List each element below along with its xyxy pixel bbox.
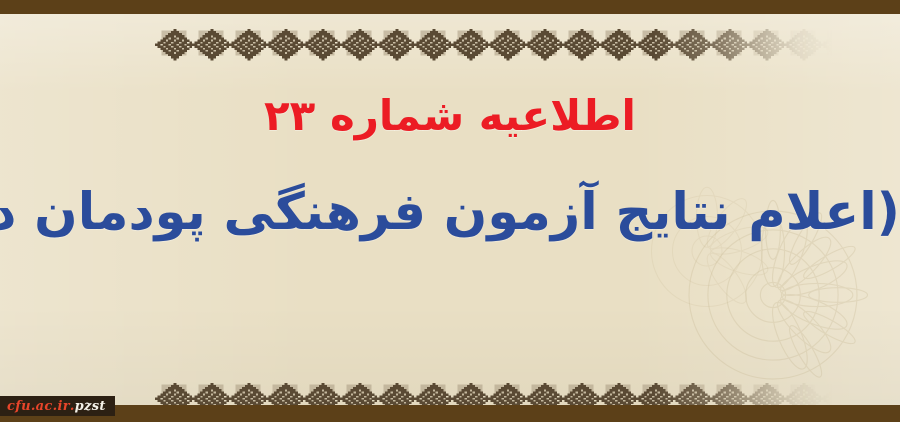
site-url-watermark: pzst.cfu.ac.ir: [0, 396, 115, 416]
kufic-diamond-motif: [303, 22, 340, 68]
kufic-diamond-motif: [192, 22, 229, 68]
kufic-diamond-motif: [266, 22, 303, 68]
watermark-suffix: .cfu.ac.ir: [7, 399, 75, 414]
kufic-diamond-motif: [747, 22, 784, 68]
kufic-diamond-motif: [673, 22, 710, 68]
top-decorative-border: [93, 22, 900, 68]
kufic-diamond-motif: [599, 22, 636, 68]
kufic-diamond-motif: [451, 22, 488, 68]
top-brown-bar: [0, 0, 900, 14]
kufic-diamond-motif: [377, 22, 414, 68]
announcement-banner: اطلاعیه شماره ۲۳ (اعلام نتایج آزمون فرهن…: [0, 0, 900, 422]
kufic-diamond-motif: [821, 22, 858, 68]
page-subtitle-blue: (اعلام نتایج آزمون فرهنگی پودمان دوم سری…: [0, 182, 900, 243]
border-lead-connector: [890, 44, 900, 47]
kufic-diamond-motif: [229, 22, 266, 68]
kufic-diamond-motif: [710, 22, 747, 68]
watermark-prefix: pzst: [75, 399, 106, 414]
kufic-diamond-motif: [155, 22, 192, 68]
kufic-diamond-motif: [784, 22, 821, 68]
page-title-red: اطلاعیه شماره ۲۳: [0, 92, 900, 140]
kufic-diamond-motif: [414, 22, 451, 68]
kufic-diamond-motif: [525, 22, 562, 68]
kufic-diamond-motif: [488, 22, 525, 68]
kufic-diamond-motif: [858, 22, 895, 68]
bottom-brown-bar: [0, 405, 900, 422]
kufic-diamond-motif: [636, 22, 673, 68]
kufic-diamond-motif: [562, 22, 599, 68]
border-lead-connector-bottom: [890, 398, 900, 401]
kufic-diamond-motif: [340, 22, 377, 68]
